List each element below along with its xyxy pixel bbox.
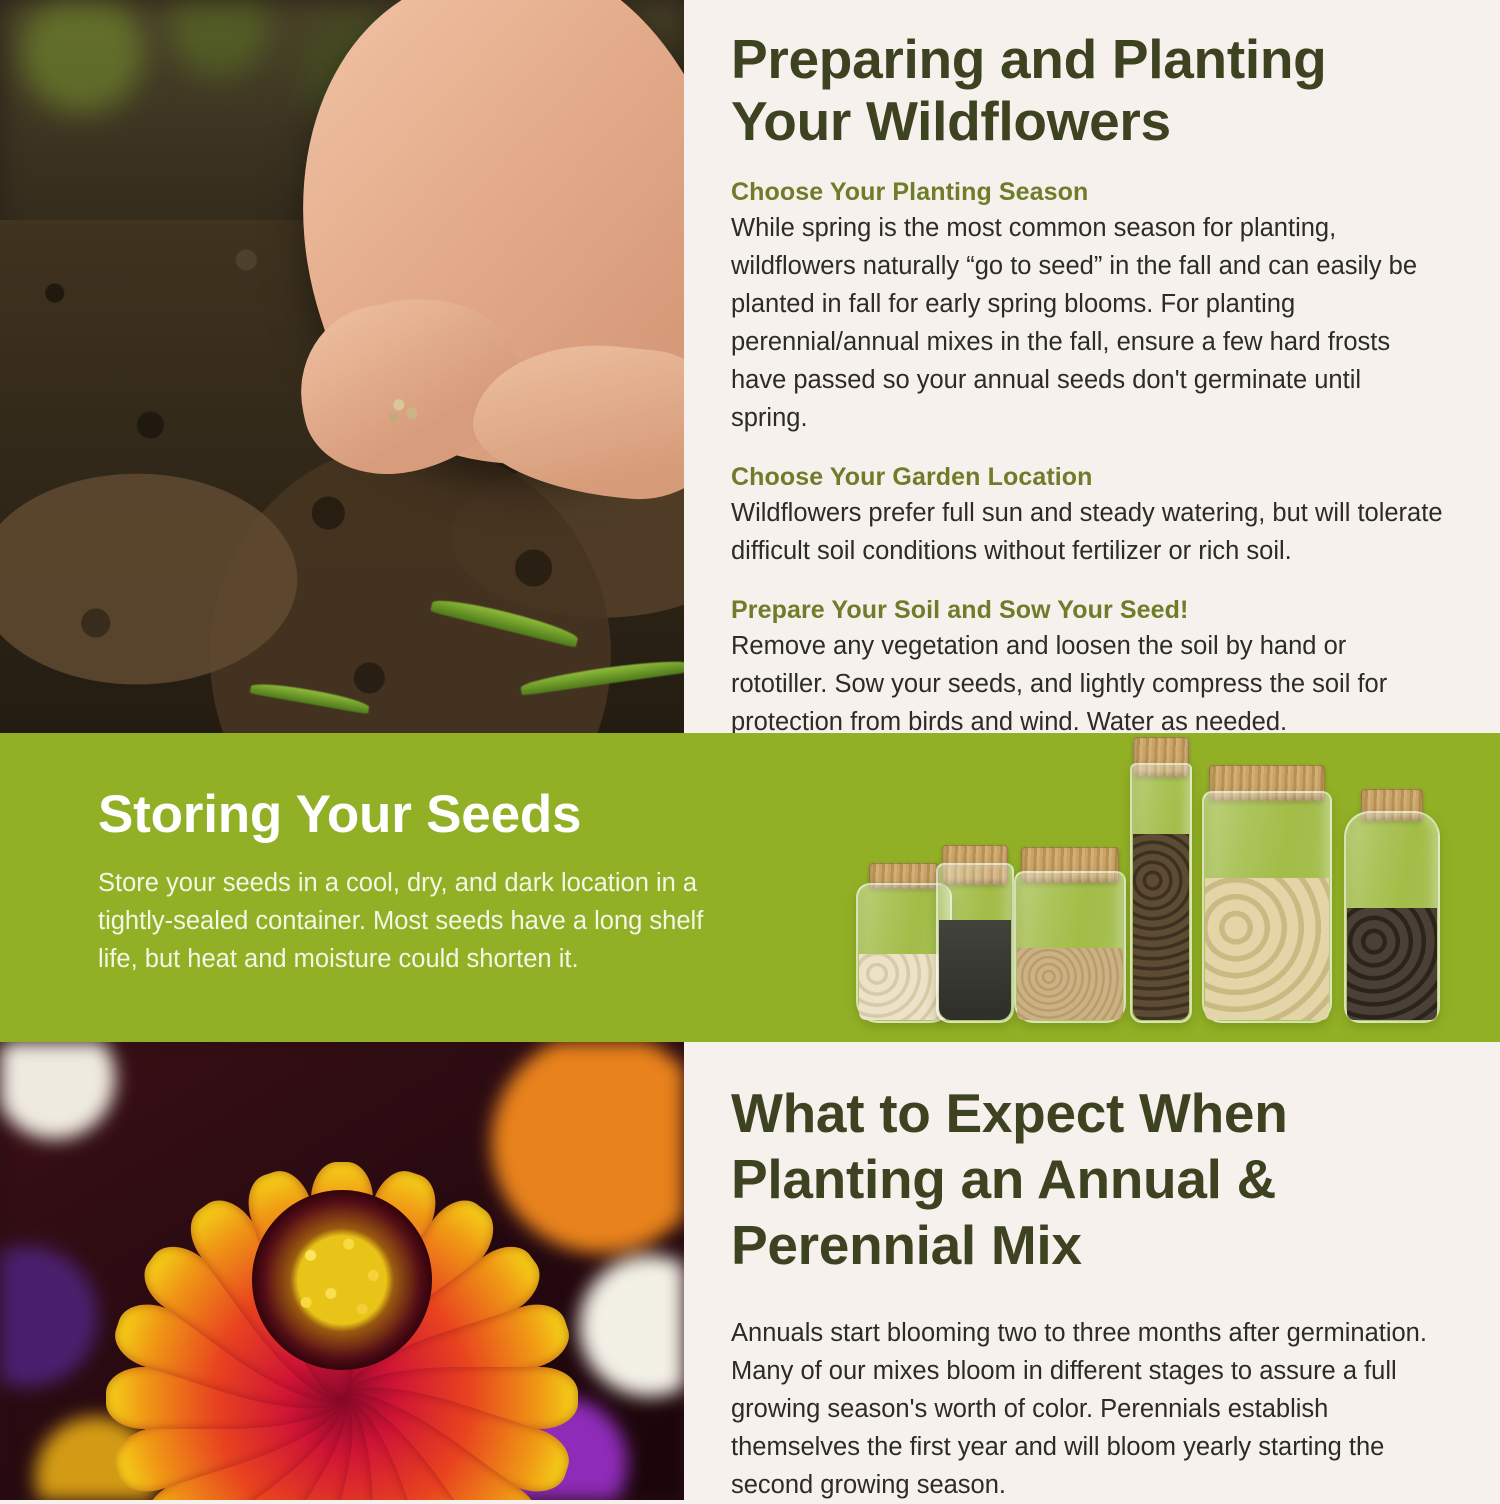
jar-sunflower-seeds <box>1344 811 1440 1023</box>
subsection-planting-season: Choose Your Planting Season While spring… <box>731 178 1443 437</box>
jar-contents <box>1205 878 1329 1020</box>
flower-center-disc <box>252 1190 432 1370</box>
subsection-prepare-soil: Prepare Your Soil and Sow Your Seed! Rem… <box>731 596 1443 741</box>
subsection-title: Choose Your Planting Season <box>731 178 1443 207</box>
jar-pumpkin-seeds <box>1202 791 1332 1023</box>
page-title: Preparing and Planting Your Wildflowers <box>731 28 1443 152</box>
section-storing-your-seeds: Storing Your Seeds Store your seeds in a… <box>0 733 1500 1042</box>
section-what-to-expect: What to Expect When Planting an Annual &… <box>0 1042 1500 1500</box>
jar-contents <box>939 920 1011 1020</box>
flower-petals <box>72 1042 612 1500</box>
seeds-in-hand <box>378 388 430 430</box>
what-to-expect-body: Annuals start blooming two to three mont… <box>731 1314 1443 1504</box>
subsection-body: Remove any vegetation and loosen the soi… <box>731 627 1443 741</box>
subsection-body: While spring is the most common season f… <box>731 209 1443 437</box>
seed-storage-jars-image <box>850 741 1470 1041</box>
subsection-title: Prepare Your Soil and Sow Your Seed! <box>731 596 1443 625</box>
subsection-title: Choose Your Garden Location <box>731 463 1443 492</box>
jar-black-seeds <box>936 863 1014 1023</box>
jar-contents <box>1133 834 1189 1020</box>
blanket-flower-image <box>0 1042 684 1500</box>
flower-center-pollen <box>286 1224 398 1336</box>
preparing-text-column: Preparing and Planting Your Wildflowers … <box>731 0 1443 733</box>
storing-text-column: Storing Your Seeds Store your seeds in a… <box>98 786 748 978</box>
jar-tall-dark-seeds <box>1130 763 1192 1023</box>
jar-contents <box>1347 908 1437 1020</box>
storing-body: Store your seeds in a cool, dry, and dar… <box>98 864 748 978</box>
section-preparing-and-planting: Preparing and Planting Your Wildflowers … <box>0 0 1500 733</box>
infographic-page: Preparing and Planting Your Wildflowers … <box>0 0 1500 1500</box>
subsection-garden-location: Choose Your Garden Location Wildflowers … <box>731 463 1443 570</box>
what-to-expect-heading: What to Expect When Planting an Annual &… <box>731 1080 1443 1278</box>
what-to-expect-text-column: What to Expect When Planting an Annual &… <box>731 1080 1443 1504</box>
jar-contents <box>1017 948 1123 1020</box>
hands-sowing-seeds-image <box>0 0 684 733</box>
storing-heading: Storing Your Seeds <box>98 786 748 844</box>
jar-sand-seeds <box>1014 871 1126 1023</box>
subsection-body: Wildflowers prefer full sun and steady w… <box>731 494 1443 570</box>
